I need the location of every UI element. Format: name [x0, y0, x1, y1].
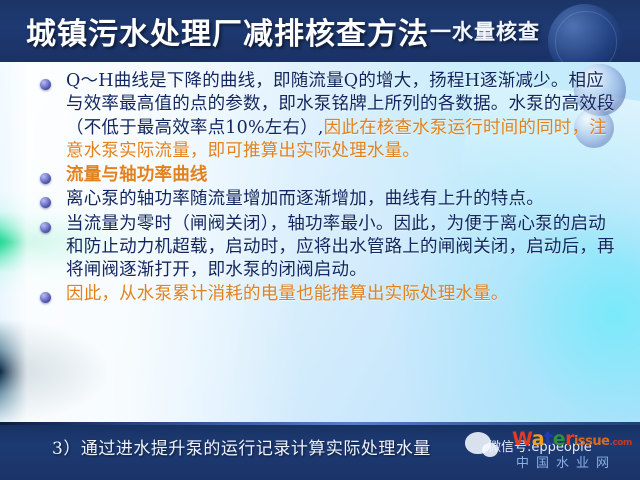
bullet-text: 当流量为零时（闸阀关闭），轴功率最小。因此，为便于离心泵的启动和防止动力机超载，…: [60, 213, 618, 283]
bullet-text: 流量与轴功率曲线: [60, 164, 208, 187]
bullet-text: 离心泵的轴功率随流量增加而逐渐增加，曲线有上升的特点。: [60, 188, 544, 211]
sphere-bullet-icon: [40, 197, 51, 208]
list-item: 离心泵的轴功率随流量增加而逐渐增加，曲线有上升的特点。: [40, 188, 618, 211]
list-item: 当流量为零时（闸阀关闭），轴功率最小。因此，为便于离心泵的启动和防止动力机超载，…: [40, 213, 618, 283]
sphere-bullet-icon: [40, 222, 51, 233]
page-title: 城镇污水处理厂减排核查方法 一水量核查: [26, 0, 540, 62]
bullet-list: Q～H曲线是下降的曲线，即随流量Q的增大，扬程H逐渐减少。相应与效率最高值的点的…: [0, 62, 640, 308]
list-item: 流量与轴功率曲线: [40, 164, 618, 187]
footer-caption: 3）通过进水提升泵的运行记录计算实际处理水量: [52, 434, 431, 459]
bullet-text: Q～H曲线是下降的曲线，即随流量Q的增大，扬程H逐渐减少。相应与效率最高值的点的…: [60, 70, 618, 163]
sphere-bullet-icon: [40, 173, 51, 184]
list-item: 因此，从水泵累计消耗的电量也能推算出实际处理水量。: [40, 283, 618, 306]
globe-decoration-icon: [548, 4, 622, 62]
bullet-text: 因此，从水泵累计消耗的电量也能推算出实际处理水量。: [60, 283, 509, 306]
page-title-main: 城镇污水处理厂减排核查方法: [26, 9, 429, 53]
slide-footer: 3）通过进水提升泵的运行记录计算实际处理水量: [0, 422, 640, 480]
sphere-bullet-icon: [40, 292, 51, 303]
list-item: Q～H曲线是下降的曲线，即随流量Q的增大，扬程H逐渐减少。相应与效率最高值的点的…: [40, 70, 618, 163]
sphere-bullet-icon: [40, 79, 51, 90]
slide: 城镇污水处理厂减排核查方法 一水量核查 Q～H曲线是下降的曲线，即随流量Q的增大…: [0, 0, 640, 480]
slide-header: 城镇污水处理厂减排核查方法 一水量核查: [0, 0, 640, 62]
page-title-sub: 一水量核查: [430, 16, 540, 46]
slide-content: Q～H曲线是下降的曲线，即随流量Q的增大，扬程H逐渐减少。相应与效率最高值的点的…: [0, 62, 640, 422]
footer-divider: [0, 422, 640, 425]
